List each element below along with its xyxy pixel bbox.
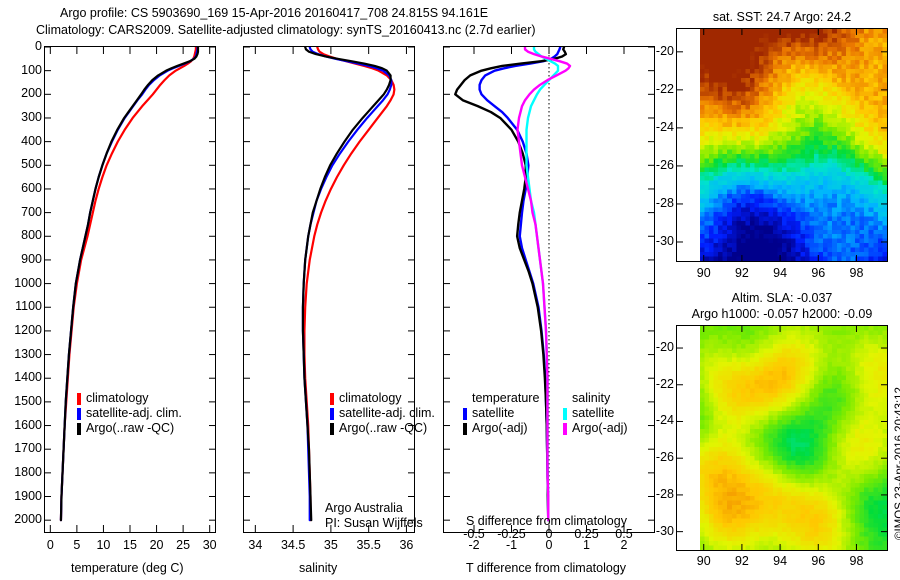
sla-ytick-2: -24 xyxy=(630,413,674,427)
difference-legend-temperature: temperature satellite Argo(-adj) xyxy=(463,391,539,436)
sst-xtick-98: 98 xyxy=(826,266,886,280)
legend-spacer xyxy=(563,393,567,405)
legend-swatch-temperature-satellite xyxy=(463,408,467,420)
sst-ytick-0: -20 xyxy=(630,44,674,58)
legend-item: Argo(..raw -QC) xyxy=(330,421,435,436)
legend-label: satellite-adj. clim. xyxy=(86,406,182,421)
legend-header-temperature: temperature xyxy=(472,391,539,406)
legend-swatch-salinity-argo-adj xyxy=(563,423,567,435)
legend-swatch-satellite-adj-clim xyxy=(77,408,81,420)
sla-ytick-1: -22 xyxy=(630,377,674,391)
sst-ytick-3: -26 xyxy=(630,158,674,172)
depth-tick-1800: 1800 xyxy=(0,465,42,479)
s-difference-label: S difference from climatology xyxy=(466,514,627,528)
annotation-line2: PI: Susan Wijffels xyxy=(325,516,423,531)
sla-xtick-98: 98 xyxy=(826,554,886,568)
legend-item: Argo(..raw -QC) xyxy=(77,421,182,436)
legend-label: Argo(-adj) xyxy=(572,421,628,436)
legend-spacer xyxy=(463,393,467,405)
sla-map-header-line1: Altim. SLA: -0.037 xyxy=(676,291,888,305)
legend-label: climatology xyxy=(339,391,402,406)
legend-label: satellite-adj. clim. xyxy=(339,406,435,421)
legend-label: Argo(..raw -QC) xyxy=(86,421,174,436)
depth-tick-1400: 1400 xyxy=(0,370,42,384)
depth-tick-1100: 1100 xyxy=(0,299,42,313)
t-difference-label: T difference from climatology xyxy=(466,561,626,575)
legend-swatch-temperature-argo-adj xyxy=(463,423,467,435)
difference-legend-salinity: salinity satellite Argo(-adj) xyxy=(563,391,628,436)
sla-ytick-5: -30 xyxy=(630,524,674,538)
depth-tick-0: 0 xyxy=(0,39,42,53)
depth-tick-1200: 1200 xyxy=(0,323,42,337)
legend-label: satellite xyxy=(572,406,614,421)
legend-item: satellite-adj. clim. xyxy=(330,406,435,421)
legend-item: Argo(-adj) xyxy=(463,421,539,436)
legend-item: climatology xyxy=(77,391,182,406)
depth-tick-700: 700 xyxy=(0,205,42,219)
depth-tick-600: 600 xyxy=(0,181,42,195)
depth-tick-900: 900 xyxy=(0,252,42,266)
salinity-axis-label: salinity xyxy=(299,561,337,575)
salinity-tick-4: 36 xyxy=(376,538,436,552)
sst-ytick-2: -24 xyxy=(630,120,674,134)
difference-profile-plot xyxy=(444,47,654,532)
legend-item: climatology xyxy=(330,391,435,406)
legend-item: satellite-adj. clim. xyxy=(77,406,182,421)
depth-tick-1000: 1000 xyxy=(0,276,42,290)
legend-item: satellite xyxy=(563,406,628,421)
legend-swatch-satellite-adj-clim xyxy=(330,408,334,420)
legend-swatch-climatology xyxy=(77,393,81,405)
annotation-line1: Argo Australia xyxy=(325,501,423,516)
legend-item: satellite xyxy=(463,406,539,421)
legend-swatch-salinity-satellite xyxy=(563,408,567,420)
page-title-line2: Climatology: CARS2009. Satellite-adjuste… xyxy=(36,23,536,37)
legend-label: Argo(..raw -QC) xyxy=(339,421,427,436)
argo-australia-annotation: Argo Australia PI: Susan Wijffels xyxy=(325,501,423,531)
legend-header-salinity: salinity xyxy=(572,391,610,406)
sla-ytick-0: -20 xyxy=(630,340,674,354)
depth-tick-500: 500 xyxy=(0,157,42,171)
depth-tick-400: 400 xyxy=(0,134,42,148)
legend-swatch-climatology xyxy=(330,393,334,405)
depth-tick-1900: 1900 xyxy=(0,489,42,503)
sla-ytick-4: -28 xyxy=(630,487,674,501)
depth-tick-1500: 1500 xyxy=(0,394,42,408)
legend-header-row: salinity xyxy=(563,391,628,406)
temperature-profile-plot xyxy=(45,47,215,532)
depth-tick-2000: 2000 xyxy=(0,512,42,526)
legend-label: climatology xyxy=(86,391,149,406)
legend-swatch-argo-raw xyxy=(77,423,81,435)
legend-label: satellite xyxy=(472,406,514,421)
sst-map-header: sat. SST: 24.7 Argo: 24.2 xyxy=(676,10,888,24)
salinity-legend: climatology satellite-adj. clim. Argo(..… xyxy=(330,391,435,436)
legend-item: Argo(-adj) xyxy=(563,421,628,436)
legend-swatch-argo-raw xyxy=(330,423,334,435)
salinity-profile-plot xyxy=(244,47,414,532)
temperature-axis-label: temperature (deg C) xyxy=(71,561,184,575)
depth-tick-200: 200 xyxy=(0,86,42,100)
temperature-legend: climatology satellite-adj. clim. Argo(..… xyxy=(77,391,182,436)
depth-tick-1300: 1300 xyxy=(0,347,42,361)
sla-map-image xyxy=(677,326,887,550)
depth-tick-1700: 1700 xyxy=(0,441,42,455)
depth-tick-1600: 1600 xyxy=(0,418,42,432)
page-title-line1: Argo profile: CS 5903690_169 15-Apr-2016… xyxy=(60,6,488,20)
sst-ytick-4: -28 xyxy=(630,196,674,210)
sla-map-header-line2: Argo h1000: -0.057 h2000: -0.09 xyxy=(660,307,900,321)
legend-label: Argo(-adj) xyxy=(472,421,528,436)
sst-ytick-5: -30 xyxy=(630,234,674,248)
sst-ytick-1: -22 xyxy=(630,82,674,96)
sst-map-image xyxy=(677,29,887,261)
depth-tick-100: 100 xyxy=(0,63,42,77)
legend-header-row: temperature xyxy=(463,391,539,406)
depth-tick-800: 800 xyxy=(0,228,42,242)
depth-tick-300: 300 xyxy=(0,110,42,124)
credit-text: ©IMOS 23-Apr-2016 20:43:12 xyxy=(894,387,900,540)
sla-ytick-3: -26 xyxy=(630,450,674,464)
